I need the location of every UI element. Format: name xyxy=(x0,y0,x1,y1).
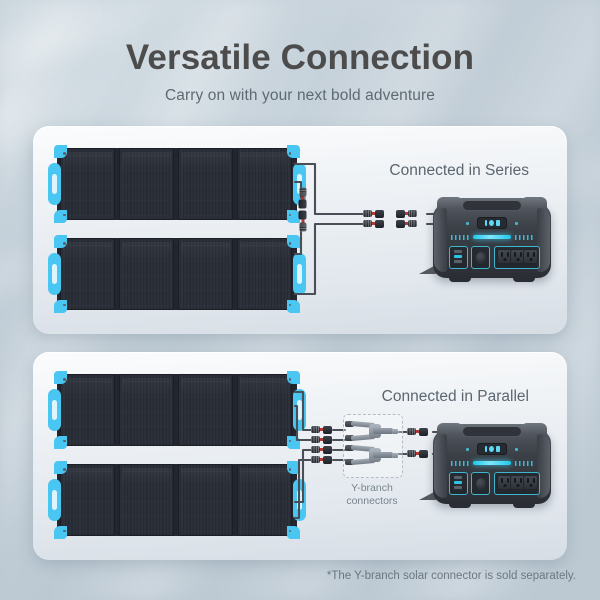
dc-port-icon xyxy=(476,478,486,490)
solar-panel-icon xyxy=(57,374,297,446)
y-branch-connector-icon xyxy=(345,420,393,442)
solar-panel-icon xyxy=(57,464,297,536)
mc4-connector-icon xyxy=(311,455,333,464)
ybranch-label: Y-branch connectors xyxy=(329,482,415,508)
mc4-connector-icon xyxy=(299,210,308,232)
mc4-connector-icon xyxy=(311,445,333,454)
carry-handle-icon xyxy=(293,253,306,295)
dc-port-group xyxy=(471,246,490,269)
page-subtitle: Carry on with your next bold adventure xyxy=(0,87,600,105)
mc4-connector-icon xyxy=(407,449,429,458)
card-label-series: Connected in Series xyxy=(389,162,529,180)
marketing-graphic: Versatile Connection Carry on with your … xyxy=(0,0,600,600)
mc4-connector-icon xyxy=(363,219,385,228)
carry-handle-icon xyxy=(293,389,306,431)
usb-port-group xyxy=(449,472,468,495)
dc-port-group xyxy=(471,472,490,495)
card-label-parallel: Connected in Parallel xyxy=(382,388,529,406)
mc4-connector-icon xyxy=(395,209,417,218)
ac-outlet-icon xyxy=(523,249,538,264)
diagram-card-parallel: Connected in Parallel xyxy=(33,352,567,560)
y-branch-connector-icon xyxy=(345,444,393,466)
mc4-connector-icon xyxy=(311,435,333,444)
carry-handle-icon xyxy=(48,163,61,205)
solar-panel-icon xyxy=(57,148,297,220)
ac-outlet-group xyxy=(494,246,540,269)
ac-outlet-icon xyxy=(523,475,538,490)
display-screen-icon xyxy=(477,443,507,455)
carry-handle-icon xyxy=(48,479,61,521)
footnote: *The Y-branch solar connector is sold se… xyxy=(0,570,576,582)
ac-outlet-group xyxy=(494,472,540,495)
display-screen-icon xyxy=(477,217,507,229)
header: Versatile Connection Carry on with your … xyxy=(0,38,600,105)
mc4-connector-icon xyxy=(299,188,308,210)
carry-handle-icon xyxy=(293,479,306,521)
diagram-card-series: Connected in Series xyxy=(33,126,567,334)
power-station-icon xyxy=(433,204,551,278)
solar-panel-icon xyxy=(57,238,297,310)
page-title: Versatile Connection xyxy=(0,38,600,77)
power-station-icon xyxy=(433,430,551,504)
usb-port-group xyxy=(449,246,468,269)
mc4-connector-icon xyxy=(407,427,429,436)
carry-handle-icon xyxy=(48,389,61,431)
mc4-connector-icon xyxy=(311,425,333,434)
mc4-connector-icon xyxy=(363,209,385,218)
carry-handle-icon xyxy=(48,253,61,295)
mc4-connector-icon xyxy=(395,219,417,228)
dc-port-icon xyxy=(476,252,486,264)
